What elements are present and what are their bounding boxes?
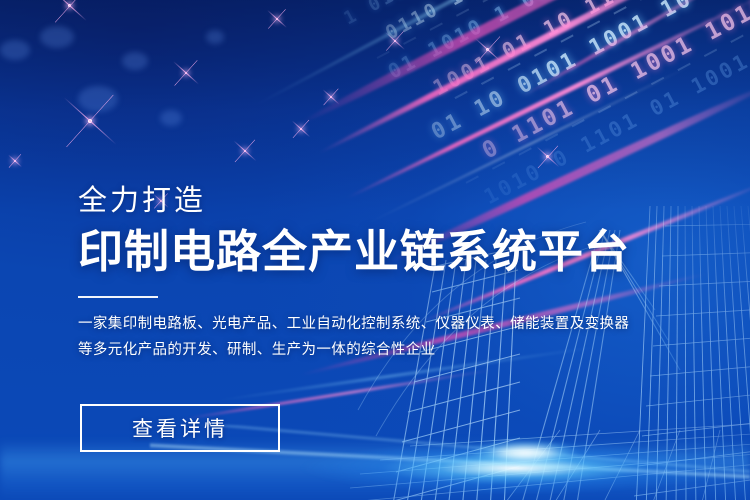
star-icon [68, 4, 71, 7]
hero-divider [78, 296, 158, 298]
star-icon [330, 96, 332, 98]
hero-headline: 印制电路全产业链系统平台 [78, 227, 630, 277]
star-icon [300, 128, 302, 130]
star-icon [88, 119, 92, 123]
hero-description: 一家集印制电路板、光电产品、工业自动化控制系统、仪器仪表、储能装置及变换器 等多… [78, 312, 630, 363]
hero-content: 全力打造 印制电路全产业链系统平台 一家集印制电路板、光电产品、工业自动化控制系… [78, 186, 630, 363]
star-icon [276, 18, 278, 20]
star-icon [244, 150, 246, 152]
star-icon [14, 160, 16, 162]
bottom-light-core [470, 440, 580, 466]
hero-banner: 01 10 01 1001 101 1001 01 10 0101 1 1 01… [0, 0, 750, 500]
hero-description-line-1: 一家集印制电路板、光电产品、工业自动化控制系统、仪器仪表、储能装置及变换器 [78, 312, 630, 337]
hero-eyebrow: 全力打造 [78, 186, 630, 218]
star-icon [185, 72, 187, 74]
view-details-button[interactable]: 查看详情 [80, 404, 280, 452]
hero-description-line-2: 等多元化产品的开发、研制、生产为一体的综合性企业 [78, 338, 630, 363]
